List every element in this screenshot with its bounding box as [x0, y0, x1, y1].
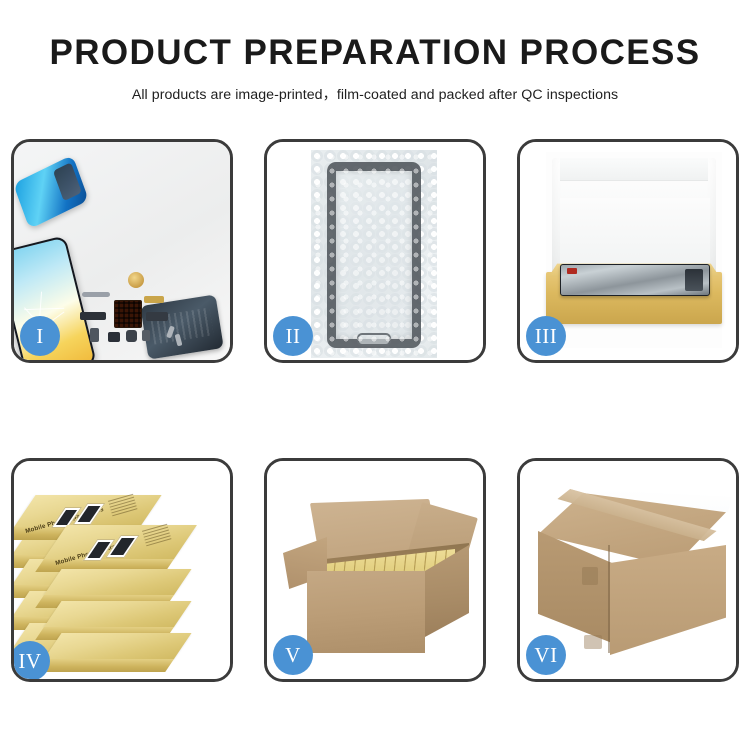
step-badge-1: I	[20, 316, 60, 356]
kraft-box	[44, 601, 174, 627]
step-panel-2: II	[264, 139, 486, 363]
blue-screen-protector	[14, 155, 89, 229]
part-component-3	[126, 330, 137, 342]
part-screw-2	[175, 334, 183, 347]
part-chip-grid	[114, 300, 142, 328]
carton-right-panel	[610, 545, 726, 655]
part-component-4	[142, 330, 150, 341]
carton-handle-notch	[582, 567, 598, 585]
bubble-wrapped-screen	[311, 150, 437, 358]
step-panel-6: VI	[517, 458, 739, 682]
part-screw-1	[166, 326, 175, 339]
part-flex-cable-3	[146, 312, 168, 321]
step-4-photo: Mobile Phone Spare Parts Mobile Phone Sp…	[14, 461, 230, 679]
carton-front-panel	[307, 571, 425, 653]
screen-in-box	[560, 264, 710, 296]
step-panel-4: Mobile Phone Spare Parts Mobile Phone Sp…	[11, 458, 233, 682]
page-title: PRODUCT PREPARATION PROCESS	[0, 34, 750, 73]
screen-outline	[327, 162, 421, 348]
step-panel-5: V	[264, 458, 486, 682]
part-speaker-coil	[128, 272, 144, 288]
box-lid	[44, 569, 192, 595]
spare-parts-group	[76, 278, 186, 356]
part-component-2	[108, 332, 120, 342]
kraft-box-stack: Mobile Phone Spare Parts Mobile Phone Sp…	[18, 481, 230, 673]
kraft-box	[44, 633, 174, 659]
page-header: PRODUCT PREPARATION PROCESS All products…	[0, 0, 750, 104]
process-steps-grid: I II III	[11, 139, 739, 682]
open-shipping-carton	[285, 497, 471, 659]
part-metal-strip	[82, 292, 110, 297]
step-badge-5: V	[273, 635, 313, 675]
step-badge-3: III	[526, 316, 566, 356]
box-lid	[44, 633, 192, 659]
box-lid	[44, 601, 192, 627]
carton-handle-notch	[584, 635, 602, 649]
step-badge-4: IV	[11, 641, 50, 681]
sealed-shipping-carton	[538, 493, 726, 657]
page-subtitle: All products are image-printed，film-coat…	[0, 84, 750, 104]
kraft-box	[44, 569, 174, 595]
crack-line	[24, 308, 64, 311]
foam-padding	[560, 198, 710, 274]
part-flex-cable-1	[80, 312, 106, 320]
part-flex-cable-2	[144, 296, 164, 303]
part-component-1	[90, 328, 99, 342]
step-badge-6: VI	[526, 635, 566, 675]
inner-box-open	[546, 152, 722, 348]
step-badge-2: II	[273, 316, 313, 356]
step-panel-1: I	[11, 139, 233, 363]
carton-corner-seam	[608, 545, 610, 653]
step-panel-3: III	[517, 139, 739, 363]
box-side	[35, 659, 174, 672]
